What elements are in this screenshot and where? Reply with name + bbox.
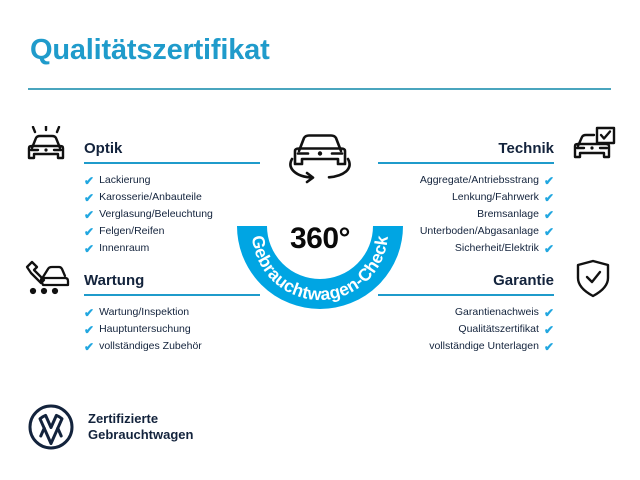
list-item-label: vollständiges Zubehör [99,338,202,355]
check-icon: ✔ [544,209,554,221]
list-item: ✔ Hauptuntersuchung [84,321,274,338]
list-item-label: Qualitätszertifikat [458,321,539,338]
check-icon: ✔ [544,341,554,353]
list-item-label: Lenkung/Fahrwerk [452,189,539,206]
list-item-label: Lackierung [99,172,150,189]
list-item: vollständige Unterlagen ✔ [364,338,554,355]
check-icon: ✔ [544,243,554,255]
list-item-label: Wartung/Inspektion [99,304,189,321]
list-item-label: vollständige Unterlagen [429,338,539,355]
list-item-label: Sicherheit/Elektrik [455,240,539,257]
shield-check-icon [570,258,616,300]
list-item-label: Aggregate/Antriebsstrang [420,172,539,189]
check-icon: ✔ [544,175,554,187]
wrench-car-icon [24,258,70,300]
check-icon: ✔ [84,226,94,238]
check-icon: ✔ [544,226,554,238]
check-icon: ✔ [84,307,94,319]
list-item-label: Verglasung/Beleuchtung [99,206,213,223]
list-item-label: Hauptuntersuchung [99,321,191,338]
check-icon: ✔ [544,192,554,204]
footer-line-1: Zertifizierte [88,411,193,427]
page-title: Qualitätszertifikat [30,34,270,67]
list-item-label: Garantienachweis [455,304,539,321]
list-item: ✔ vollständiges Zubehör [84,338,274,355]
check-icon: ✔ [84,243,94,255]
list-item-label: Karosserie/Anbauteile [99,189,202,206]
list-item-label: Unterboden/Abgasanlage [420,223,539,240]
footer-line-2: Gebrauchtwagen [88,427,193,443]
list-item-label: Felgen/Reifen [99,223,164,240]
check-icon: ✔ [84,341,94,353]
car-shine-icon [24,126,70,168]
vw-logo-icon [28,404,74,450]
check-icon: ✔ [84,324,94,336]
footer-text: Zertifizierte Gebrauchtwagen [88,411,193,443]
certificate-canvas: Qualitätszertifikat Optik [0,0,640,480]
check-icon: ✔ [544,307,554,319]
check-icon: ✔ [84,209,94,221]
list-item: Qualitätszertifikat ✔ [364,321,554,338]
header-divider [28,88,611,90]
footer-brand: Zertifizierte Gebrauchtwagen [28,404,193,450]
check-icon: ✔ [84,175,94,187]
360-gebrauchtwagen-check-badge: Gebrauchtwagen-Check 360° [228,122,412,322]
car-checkbox-icon [570,126,616,168]
badge-center-value: 360° [228,222,412,256]
list-item-label: Innenraum [99,240,149,257]
check-icon: ✔ [84,192,94,204]
check-icon: ✔ [544,324,554,336]
list-item-label: Bremsanlage [477,206,539,223]
